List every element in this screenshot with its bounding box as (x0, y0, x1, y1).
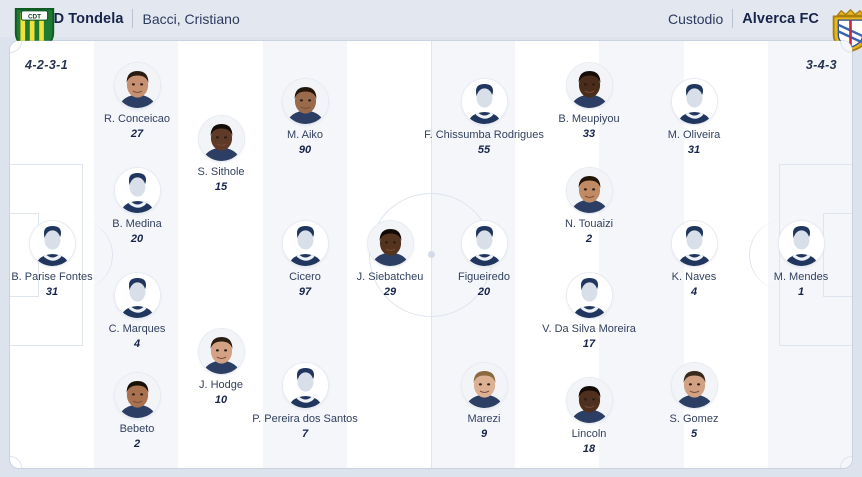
player-card[interactable]: P. Pereira dos Santos7 (250, 363, 360, 440)
player-avatar (283, 363, 328, 408)
lineup-page: CDT CD Tondela Bacci, Cristiano Custodio… (0, 0, 862, 477)
player-number: 33 (583, 128, 595, 140)
player-number: 4 (134, 338, 140, 350)
player-avatar (199, 116, 244, 161)
corner-arc-bottom-right (840, 456, 852, 468)
player-number: 9 (481, 428, 487, 440)
player-avatar (567, 63, 612, 108)
player-avatar (199, 329, 244, 374)
player-number: 27 (131, 128, 143, 140)
player-avatar (779, 221, 824, 266)
player-avatar (283, 221, 328, 266)
player-number: 31 (688, 144, 700, 156)
player-number: 20 (131, 233, 143, 245)
player-avatar (368, 221, 413, 266)
player-name: Cicero (289, 271, 321, 284)
player-name: F. Chissumba Rodrigues (424, 129, 544, 142)
cd-tondela-crest-icon: CDT (12, 7, 34, 31)
player-avatar (462, 363, 507, 408)
player-number: 29 (384, 286, 396, 298)
player-number: 17 (583, 338, 595, 350)
player-card[interactable]: M. Oliveira31 (639, 79, 749, 156)
player-name: R. Conceicao (104, 113, 170, 126)
player-number: 31 (46, 286, 58, 298)
player-avatar (672, 79, 717, 124)
alverca-fc-crest-icon (828, 7, 850, 31)
player-card[interactable]: N. Touaizi2 (534, 168, 644, 245)
player-avatar (115, 63, 160, 108)
player-card[interactable]: Figueiredo20 (429, 221, 539, 298)
player-name: M. Aiko (287, 129, 323, 142)
home-coach-name: Bacci, Cristiano (142, 11, 239, 27)
player-name: B. Meupiyou (558, 113, 619, 126)
player-card[interactable]: V. Da Silva Moreira17 (534, 273, 644, 350)
player-name: C. Marques (109, 323, 166, 336)
player-name: M. Mendes (774, 271, 828, 284)
header-divider-away (732, 9, 733, 28)
corner-arc-top-left (10, 41, 22, 53)
player-number: 4 (691, 286, 697, 298)
player-name: N. Touaizi (565, 218, 613, 231)
player-number: 7 (302, 428, 308, 440)
home-formation-label: 4-2-3-1 (25, 58, 68, 72)
player-name: Bebeto (120, 423, 155, 436)
player-name: B. Medina (112, 218, 162, 231)
player-avatar (30, 221, 75, 266)
player-name: B. Parise Fontes (11, 271, 92, 284)
svg-text:CDT: CDT (28, 13, 41, 20)
player-number: 97 (299, 286, 311, 298)
header-divider-home (132, 9, 133, 28)
player-name: J. Siebatcheu (357, 271, 424, 284)
player-card[interactable]: Lincoln18 (534, 378, 644, 455)
player-avatar (672, 363, 717, 408)
player-name: Marezi (467, 413, 500, 426)
player-avatar (567, 378, 612, 423)
player-name: M. Oliveira (668, 129, 721, 142)
away-team-block[interactable]: Custodio Alverca FC (668, 7, 850, 31)
away-coach-name: Custodio (668, 11, 723, 27)
player-card[interactable]: Marezi9 (429, 363, 539, 440)
player-card[interactable]: M. Mendes1 (746, 221, 852, 298)
player-number: 20 (478, 286, 490, 298)
player-card[interactable]: K. Naves4 (639, 221, 749, 298)
player-number: 55 (478, 144, 490, 156)
player-number: 90 (299, 144, 311, 156)
player-number: 1 (798, 286, 804, 298)
player-avatar (115, 168, 160, 213)
pitch: 4-2-3-1 3-4-3 B. Parise Fontes31R. Conce… (10, 41, 852, 468)
away-formation-label: 3-4-3 (806, 58, 837, 72)
corner-arc-top-right (840, 41, 852, 53)
home-team-block[interactable]: CDT CD Tondela Bacci, Cristiano (12, 7, 240, 31)
player-avatar (115, 373, 160, 418)
player-avatar (462, 221, 507, 266)
player-avatar (462, 79, 507, 124)
player-number: 10 (215, 394, 227, 406)
player-name: S. Sithole (197, 166, 244, 179)
player-avatar (283, 79, 328, 124)
player-card[interactable]: B. Meupiyou33 (534, 63, 644, 140)
player-name: V. Da Silva Moreira (542, 323, 636, 336)
player-name: S. Gomez (670, 413, 719, 426)
player-name: Figueiredo (458, 271, 510, 284)
player-number: 18 (583, 443, 595, 455)
match-header: CDT CD Tondela Bacci, Cristiano Custodio… (0, 0, 862, 37)
player-avatar (567, 273, 612, 318)
player-number: 15 (215, 181, 227, 193)
player-name: J. Hodge (199, 379, 243, 392)
away-team-name: Alverca FC (742, 11, 819, 27)
player-avatar (567, 168, 612, 213)
player-number: 2 (586, 233, 592, 245)
player-number: 5 (691, 428, 697, 440)
corner-arc-bottom-left (10, 456, 22, 468)
player-name: Lincoln (572, 428, 607, 441)
player-name: K. Naves (672, 271, 717, 284)
player-card[interactable]: F. Chissumba Rodrigues55 (429, 79, 539, 156)
player-card[interactable]: S. Gomez5 (639, 363, 749, 440)
player-card[interactable]: M. Aiko90 (250, 79, 360, 156)
player-avatar (672, 221, 717, 266)
player-number: 2 (134, 438, 140, 450)
player-avatar (115, 273, 160, 318)
player-name: P. Pereira dos Santos (252, 413, 358, 426)
